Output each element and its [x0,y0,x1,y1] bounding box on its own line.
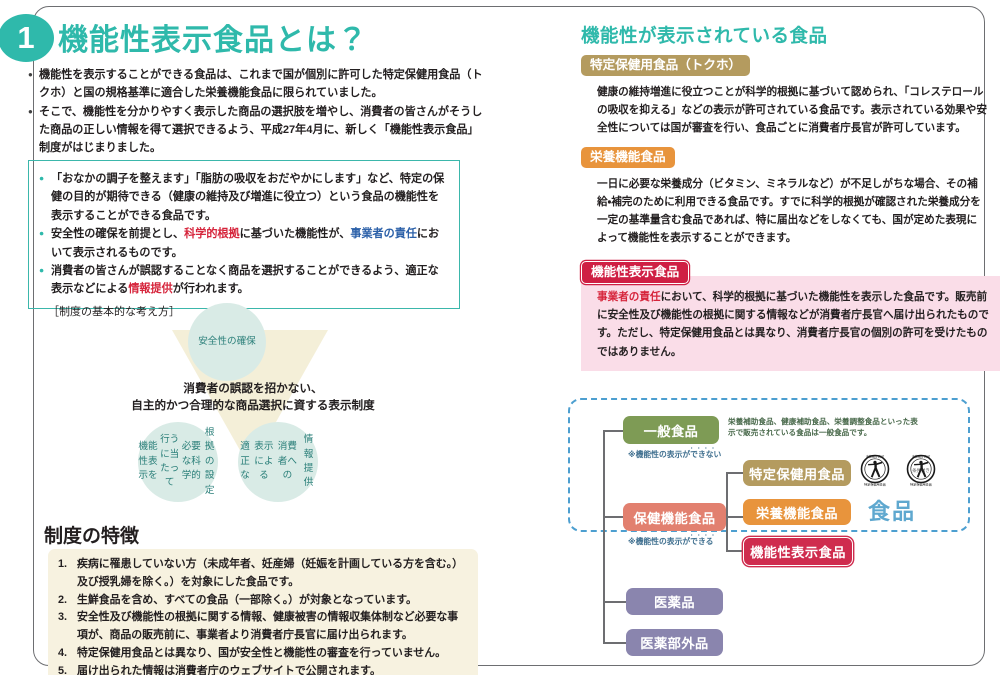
section-eiyou-body: 一日に必要な栄養成分（ビタミン、ミネラルなど）が不足しがちな場合、その補給・補完… [581,175,987,248]
feature-item: 1.疾病に罹患していない方（未成年者、妊産婦（妊娠を計画している方を含む。）及び… [58,556,466,592]
right-column: 機能性が表示されている食品 特定保健用食品（トクホ） 健康の維持増進に役立つこと… [560,0,1000,675]
ippan-description: 栄養補助食品、健康補助食品、栄養調整食品といった表示で販売されている食品は一般食… [728,416,923,439]
venn-center-text: 消費者の誤認を招かない、自主的かつ合理的な商品選択に資する表示制度 [88,380,418,415]
features-list: 1.疾病に罹患していない方（未成年者、妊産婦（妊娠を計画している方を含む。）及び… [48,549,478,675]
text-line: 行うに当たって [158,433,181,491]
definition-bullet-item: 「おなかの調子を整えます」「脂肪の吸収をおだやかにします」など、特定の保健の目的… [39,170,448,225]
text-run: 事業者の責任 [597,291,661,303]
food-group-label: 食品 [868,494,916,526]
text-run: 安全性の確保を前提とし、 [51,228,184,240]
connector-to-kinou [726,550,744,552]
feature-item: 3.安全性及び機能性の根拠に関する情報、健康被害の情報収集体制など必要な事項が、… [58,609,466,645]
text-run: ※機能性の表示が [628,537,690,546]
text-line: 必要な科学的 [181,440,201,483]
svg-text:特定保健用食品: 特定保健用食品 [910,481,932,486]
page-root: 1 機能性表示食品とは？ 機能性を表示することができる食品は、これまで国が個別に… [0,0,1000,675]
right-heading: 機能性が表示されている食品 [581,22,827,48]
feature-text: 疾病に罹患していない方（未成年者、妊産婦（妊娠を計画している方を含む。）及び授乳… [77,558,463,588]
feature-item: 2.生鮮食品を含め、すべての食品（一部除く。）が対象となっています。 [58,592,466,610]
section-kinousei: 機能性表示食品 [581,261,987,284]
flow-box-ippan[interactable]: 一般食品 [623,416,719,444]
text-run: が行われます。 [173,283,249,295]
venn-circle-safety: 安全性の確保 [188,303,266,381]
badge-eiyou: 栄養機能食品 [581,147,675,168]
intro-bullet-list: 機能性を表示することができる食品は、これまで国が個別に許可した特定保健用食品（ト… [28,67,488,159]
emphasis-dotted-text: できない [690,450,721,459]
definition-bullet-item: 消費者の皆さんが誤認することなく商品を選択することができるよう、適正な表示などに… [39,262,448,299]
text-line: 機能性表示を [138,440,158,483]
text-line: 適正な [238,440,252,483]
features-heading: 制度の特徴 [44,521,139,548]
text-line: 安全性の確保 [198,335,256,349]
tokuho-approval-mark-icon: 消費者庁許可 特定保健用食品 [856,446,894,488]
note-can-display: ※機能性の表示ができる [628,536,713,547]
text-line: 情報提供 [299,433,318,491]
venn-circle-evidence: 機能性表示を行うに当たって必要な科学的根拠の設定 [138,422,218,502]
flow-box-iyakubugaihin[interactable]: 医薬部外品 [626,629,723,656]
feature-text: 届け出られた情報は消費者庁のウェブサイトで公開されます。 [77,665,381,675]
connector-hoken-to-branch [726,516,744,518]
emphasis-dotted-text: できる [690,537,713,546]
connector-to-hoken [603,516,624,518]
text-run: ※機能性の表示が [628,450,690,459]
connector-to-tokutei [726,472,744,474]
svg-text:消費者庁許可: 消費者庁許可 [912,454,931,459]
flow-box-iyakuhin[interactable]: 医薬品 [626,588,723,615]
text-run: に基づいた機能性が、 [240,228,351,240]
section-kinousei-body: 事業者の責任において、科学的根拠に基づいた機能性を表示した食品です。販売前に安全… [597,288,989,361]
text-run: 情報提供 [128,283,172,295]
flow-box-kinousei[interactable]: 機能性表示食品 [743,537,853,566]
feature-text: 安全性及び機能性の根拠に関する情報、健康被害の情報収集体制など必要な事項が、商品… [77,611,458,641]
food-classification-flowchart: 一般食品 保健機能食品 特定保健用食品 栄養機能食品 機能性表示食品 医薬品 医… [568,398,993,670]
feature-number: 3. [58,609,67,627]
section-eiyou: 栄養機能食品 一日に必要な栄養成分（ビタミン、ミネラルなど）が不足しがちな場合、… [581,147,987,247]
venn-diagram: 安全性の確保 機能性表示を行うに当たって必要な科学的根拠の設定 適正な表示による… [110,300,390,510]
flow-box-tokutei[interactable]: 特定保健用食品 [743,460,851,486]
connector-trunk-vertical [603,430,605,643]
intro-bullet-item: そこで、機能性を分かりやすく表示した商品の選択肢を増やし、消費者の皆さんがそうし… [28,104,488,158]
feature-item: 5.届け出られた情報は消費者庁のウェブサイトで公開されます。 [58,663,466,675]
text-run: 「おなかの調子を整えます」「脂肪の吸収をおだやかにします」など、特定の保健の目的… [51,173,444,222]
connector-to-iyaku [603,601,627,603]
tokuho-marks-group: 消費者庁許可 特定保健用食品 条件付き 消費者庁許可 特定保健用食品 [856,446,940,490]
feature-text: 特定保健用食品とは異なり、国が安全性と機能性の審査を行っていません。 [77,647,446,659]
page-title: 機能性表示食品とは？ [58,15,368,59]
text-line: 消費者の誤認を招かない、 [88,380,418,397]
section-tokuho: 特定保健用食品（トクホ） 健康の維持増進に役立つことが科学的根拠に基づいて認めら… [581,55,987,137]
text-run: 事業者の責任 [350,228,417,240]
badge-tokuho: 特定保健用食品（トクホ） [581,55,750,76]
feature-number: 4. [58,645,67,663]
svg-text:消費者庁許可: 消費者庁許可 [866,454,885,459]
definition-box: 「おなかの調子を整えます」「脂肪の吸収をおだやかにします」など、特定の保健の目的… [28,160,460,309]
note-cannot-display: ※機能性の表示ができない [628,449,721,460]
flow-box-hoken[interactable]: 保健機能食品 [623,503,726,531]
badge-kinousei: 機能性表示食品 [581,261,689,284]
text-line: 根拠の設定 [201,426,218,498]
venn-circle-information: 適正な表示による消費者への情報提供 [238,422,318,502]
svg-text:条件付き: 条件付き [912,467,930,474]
tokuho-approval-mark-icon: 条件付き 消費者庁許可 特定保健用食品 [902,446,940,488]
connector-to-ippan [603,430,624,432]
feature-number: 1. [58,556,67,574]
flow-box-eiyou[interactable]: 栄養機能食品 [743,499,851,525]
text-run: 科学的根拠 [184,228,239,240]
feature-number: 5. [58,663,67,675]
feature-text: 生鮮食品を含め、すべての食品（一部除く。）が対象となっています。 [77,594,417,606]
section-number-badge: 1 [0,14,54,62]
feature-item: 4.特定保健用食品とは異なり、国が安全性と機能性の審査を行っていません。 [58,645,466,663]
intro-bullet-item: 機能性を表示することができる食品は、これまで国が個別に許可した特定保健用食品（ト… [28,67,488,103]
left-column: 1 機能性表示食品とは？ 機能性を表示することができる食品は、これまで国が個別に… [0,0,520,675]
feature-number: 2. [58,592,67,610]
connector-to-iyakubugai [603,642,627,644]
svg-text:特定保健用食品: 特定保健用食品 [864,481,886,486]
text-line: 自主的かつ合理的な商品選択に資する表示制度 [88,397,418,414]
section-tokuho-body: 健康の維持増進に役立つことが科学的根拠に基づいて認められ、「コレステロールの吸収… [581,83,987,138]
text-line: 表示による [252,440,275,483]
text-line: 消費者への [276,440,300,483]
definition-bullet-item: 安全性の確保を前提とし、科学的根拠に基づいた機能性が、事業者の責任において表示さ… [39,225,448,262]
connector-branch-vertical [726,472,728,551]
